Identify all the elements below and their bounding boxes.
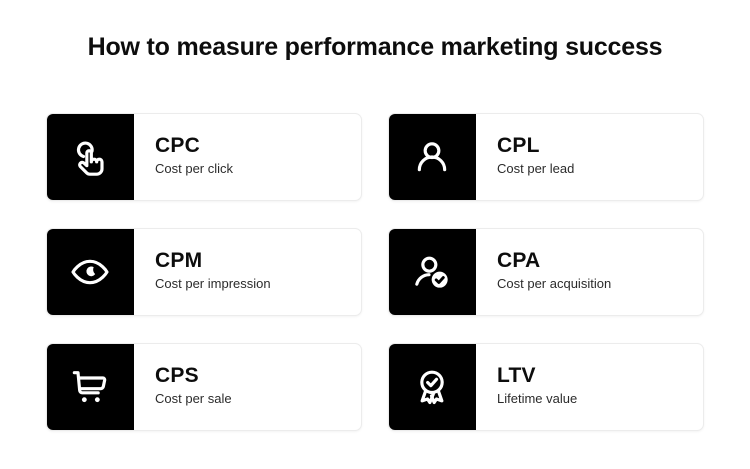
card-body: CPS Cost per sale: [134, 344, 361, 430]
card-body: CPM Cost per impression: [134, 229, 361, 315]
icon-panel: [388, 343, 476, 431]
metric-card-grid: CPC Cost per click CPL Cost per lead: [46, 113, 704, 431]
icon-panel: [46, 113, 134, 201]
card-title: CPM: [155, 249, 361, 273]
metric-card-cpm[interactable]: CPM Cost per impression: [46, 228, 362, 316]
infographic-page: How to measure performance marketing suc…: [0, 0, 750, 469]
page-title: How to measure performance marketing suc…: [0, 33, 750, 62]
card-subtitle: Cost per sale: [155, 391, 361, 408]
user-check-icon: [412, 252, 452, 292]
shopping-cart-icon: [70, 367, 110, 407]
metric-card-cps[interactable]: CPS Cost per sale: [46, 343, 362, 431]
card-title: CPA: [497, 249, 703, 273]
card-body: CPL Cost per lead: [476, 114, 703, 200]
metric-card-cpc[interactable]: CPC Cost per click: [46, 113, 362, 201]
metric-card-cpl[interactable]: CPL Cost per lead: [388, 113, 704, 201]
card-subtitle: Cost per lead: [497, 161, 703, 178]
user-icon: [412, 137, 452, 177]
card-subtitle: Lifetime value: [497, 391, 703, 408]
metric-card-cpa[interactable]: CPA Cost per acquisition: [388, 228, 704, 316]
icon-panel: [46, 343, 134, 431]
metric-card-ltv[interactable]: LTV Lifetime value: [388, 343, 704, 431]
card-body: CPC Cost per click: [134, 114, 361, 200]
card-subtitle: Cost per impression: [155, 276, 361, 293]
card-subtitle: Cost per click: [155, 161, 361, 178]
card-title: CPS: [155, 364, 361, 388]
icon-panel: [388, 113, 476, 201]
card-body: LTV Lifetime value: [476, 344, 703, 430]
card-title: CPC: [155, 134, 361, 158]
award-badge-icon: [412, 367, 452, 407]
card-title: LTV: [497, 364, 703, 388]
card-title: CPL: [497, 134, 703, 158]
card-body: CPA Cost per acquisition: [476, 229, 703, 315]
icon-panel: [46, 228, 134, 316]
icon-panel: [388, 228, 476, 316]
tap-click-icon: [70, 137, 110, 177]
eye-icon: [70, 252, 110, 292]
card-subtitle: Cost per acquisition: [497, 276, 703, 293]
